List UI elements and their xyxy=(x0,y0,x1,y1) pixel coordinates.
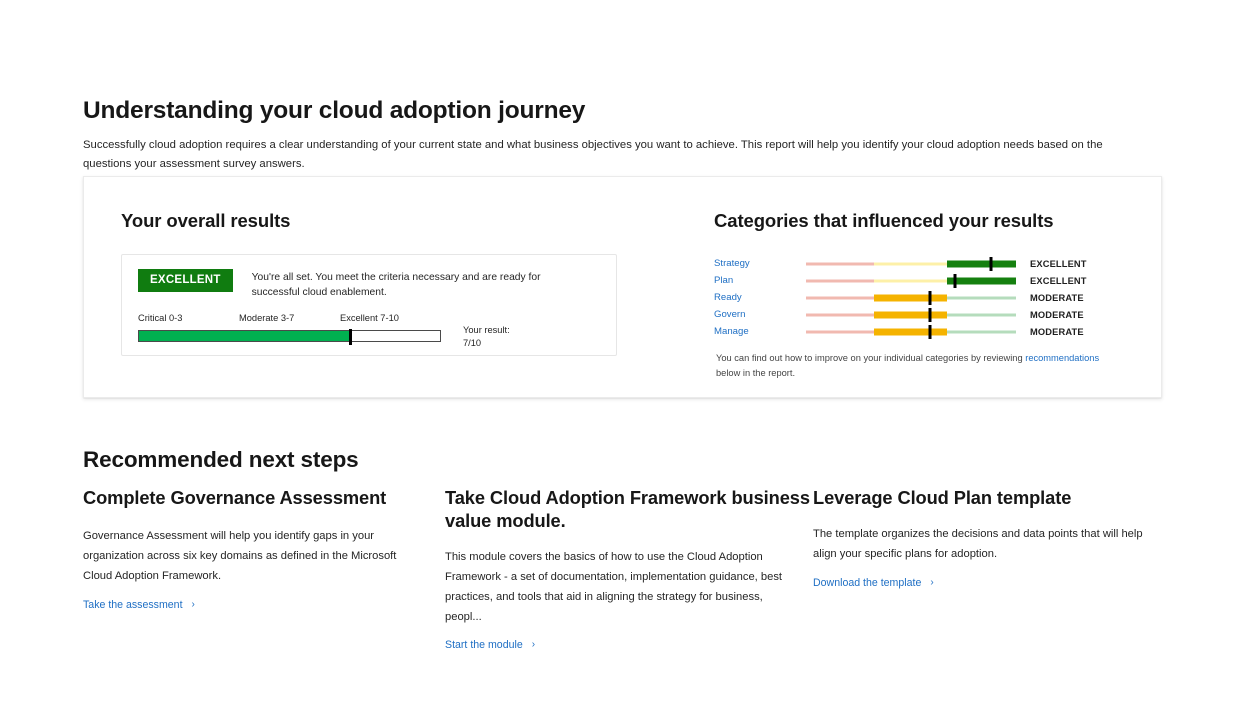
scale-label-excellent: Excellent 7-10 xyxy=(340,313,399,323)
category-list: StrategyEXCELLENTPlanEXCELLENTReadyMODER… xyxy=(714,255,1134,340)
next-step-link[interactable]: Take the assessment› xyxy=(83,599,195,611)
chevron-right-icon: › xyxy=(930,578,933,588)
recommendations-link[interactable]: recommendations xyxy=(1025,353,1099,363)
report-page: Understanding your cloud adoption journe… xyxy=(0,0,1248,704)
category-link-strategy[interactable]: Strategy xyxy=(714,257,806,270)
band-excellent xyxy=(947,330,1016,333)
categories-panel: Categories that influenced your results … xyxy=(714,210,1134,381)
category-row: GovernMODERATE xyxy=(714,306,1134,323)
band-critical xyxy=(806,296,874,299)
next-step-link[interactable]: Download the template› xyxy=(813,577,934,589)
next-step-body: Governance Assessment will help you iden… xyxy=(83,527,428,587)
category-link-ready[interactable]: Ready xyxy=(714,291,806,304)
your-result-caption: Your result: xyxy=(463,325,510,335)
next-step-body: The template organizes the decisions and… xyxy=(813,525,1168,565)
category-marker xyxy=(928,325,931,339)
badge-row: EXCELLENT You're all set. You meet the c… xyxy=(122,255,616,301)
band-excellent xyxy=(947,313,1016,316)
intro-paragraph: Successfully cloud adoption requires a c… xyxy=(83,136,1133,175)
band-moderate xyxy=(874,311,946,318)
score-scale: Critical 0-3 Moderate 3-7 Excellent 7-10… xyxy=(138,313,604,342)
band-excellent xyxy=(947,260,1016,267)
category-status: MODERATE xyxy=(1030,327,1084,337)
band-critical xyxy=(806,313,874,316)
overall-results-panel: Your overall results EXCELLENT You're al… xyxy=(121,210,621,356)
next-step-heading: Complete Governance Assessment xyxy=(83,487,445,510)
scale-labels: Critical 0-3 Moderate 3-7 Excellent 7-10 xyxy=(138,313,604,327)
next-step-link-label: Download the template xyxy=(813,577,921,589)
band-excellent xyxy=(947,296,1016,299)
next-step-link[interactable]: Start the module› xyxy=(445,639,535,651)
category-link-manage[interactable]: Manage xyxy=(714,325,806,338)
chevron-right-icon: › xyxy=(532,640,535,650)
next-step-link-label: Start the module xyxy=(445,639,523,651)
category-band-bar xyxy=(806,291,1016,305)
category-status: EXCELLENT xyxy=(1030,259,1087,269)
your-result-value: 7/10 xyxy=(463,337,510,350)
band-critical xyxy=(806,279,874,282)
category-status: MODERATE xyxy=(1030,310,1084,320)
scale-label-critical: Critical 0-3 xyxy=(138,313,182,323)
next-step-link-label: Take the assessment xyxy=(83,599,183,611)
categories-title: Categories that influenced your results xyxy=(714,210,1134,232)
band-moderate xyxy=(874,279,946,282)
next-step-heading: Take Cloud Adoption Framework business v… xyxy=(445,487,813,533)
category-status: EXCELLENT xyxy=(1030,276,1087,286)
status-badge: EXCELLENT xyxy=(138,269,233,292)
next-steps-list: Complete Governance AssessmentGovernance… xyxy=(83,487,1173,653)
categories-note-after: below in the report. xyxy=(716,368,795,378)
chevron-right-icon: › xyxy=(192,600,195,610)
category-marker xyxy=(989,257,992,271)
category-row: StrategyEXCELLENT xyxy=(714,255,1134,272)
category-marker xyxy=(954,274,957,288)
category-row: ManageMODERATE xyxy=(714,323,1134,340)
badge-description: You're all set. You meet the criteria ne… xyxy=(252,269,572,301)
overall-score-box: EXCELLENT You're all set. You meet the c… xyxy=(121,254,617,356)
score-progress-fill xyxy=(139,331,350,341)
next-step-heading: Leverage Cloud Plan template xyxy=(813,487,1173,510)
scale-label-moderate: Moderate 3-7 xyxy=(239,313,294,323)
next-step-card: Take Cloud Adoption Framework business v… xyxy=(445,487,813,653)
band-critical xyxy=(806,262,874,265)
your-result: Your result: 7/10 xyxy=(463,324,510,350)
intro-section: Understanding your cloud adoption journe… xyxy=(83,96,1143,174)
next-steps-title: Recommended next steps xyxy=(83,447,359,473)
next-step-card: Leverage Cloud Plan templateThe template… xyxy=(813,487,1173,653)
page-title: Understanding your cloud adoption journe… xyxy=(83,96,1143,127)
next-step-body: This module covers the basics of how to … xyxy=(445,548,797,628)
category-band-bar xyxy=(806,308,1016,322)
score-progress-track xyxy=(138,330,441,342)
category-link-plan[interactable]: Plan xyxy=(714,274,806,287)
categories-note: You can find out how to improve on your … xyxy=(716,351,1108,381)
band-moderate xyxy=(874,262,946,265)
score-marker xyxy=(349,329,352,345)
category-row: ReadyMODERATE xyxy=(714,289,1134,306)
category-link-govern[interactable]: Govern xyxy=(714,308,806,321)
band-moderate xyxy=(874,328,946,335)
categories-note-before: You can find out how to improve on your … xyxy=(716,353,1025,363)
band-moderate xyxy=(874,294,946,301)
category-band-bar xyxy=(806,257,1016,271)
category-row: PlanEXCELLENT xyxy=(714,272,1134,289)
category-marker xyxy=(928,308,931,322)
category-band-bar xyxy=(806,325,1016,339)
band-critical xyxy=(806,330,874,333)
category-status: MODERATE xyxy=(1030,293,1084,303)
overall-results-title: Your overall results xyxy=(121,210,621,232)
next-step-card: Complete Governance AssessmentGovernance… xyxy=(83,487,445,653)
category-marker xyxy=(928,291,931,305)
band-excellent xyxy=(947,277,1016,284)
results-card: Your overall results EXCELLENT You're al… xyxy=(83,176,1162,398)
category-band-bar xyxy=(806,274,1016,288)
